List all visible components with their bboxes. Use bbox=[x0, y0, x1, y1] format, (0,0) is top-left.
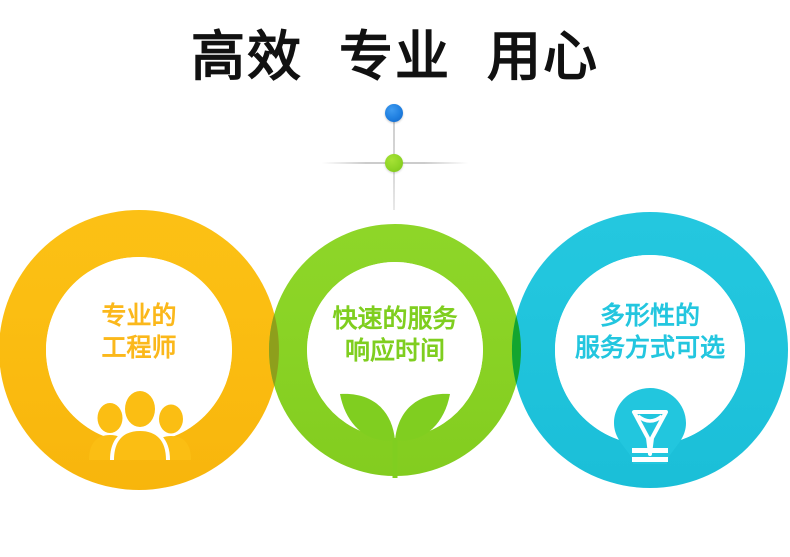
cyan-circle-label: 多形性的 服务方式可选 bbox=[535, 300, 765, 364]
people-group-icon bbox=[84, 388, 196, 460]
title-word-professional: 专业 bbox=[339, 26, 451, 88]
green-label-line-2: 响应时间 bbox=[298, 335, 492, 367]
title-word-attentive: 用心 bbox=[487, 26, 599, 88]
cyan-label-line-1: 多形性的 bbox=[535, 300, 765, 332]
cyan-label-line-2: 服务方式可选 bbox=[535, 332, 765, 364]
orange-label-line-2: 工程师 bbox=[39, 332, 239, 364]
lightbulb-icon bbox=[604, 386, 696, 472]
green-label-line-1: 快速的服务 bbox=[298, 303, 492, 335]
page-title: 高效专业用心 bbox=[0, 26, 790, 88]
green-node-dot-icon bbox=[385, 154, 403, 172]
connector-decoration bbox=[300, 100, 490, 210]
title-word-efficient: 高效 bbox=[191, 26, 303, 88]
orange-circle-label: 专业的 工程师 bbox=[39, 300, 239, 364]
blue-node-dot-icon bbox=[385, 104, 403, 122]
sprout-plant-icon bbox=[338, 382, 452, 478]
green-circle-label: 快速的服务 响应时间 bbox=[298, 303, 492, 367]
orange-label-line-1: 专业的 bbox=[39, 300, 239, 332]
infographic-canvas: 高效专业用心 bbox=[0, 0, 790, 557]
